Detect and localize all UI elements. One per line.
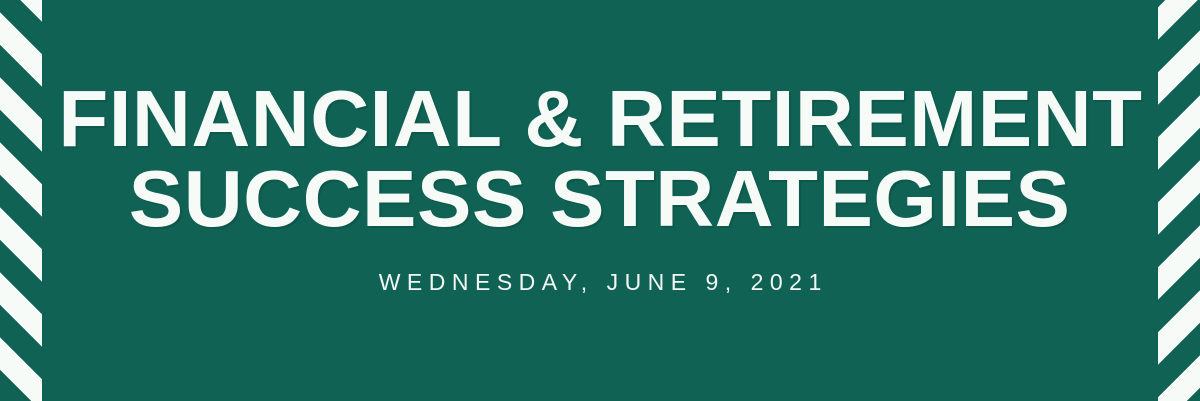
stripe-pattern-right-icon [1158,0,1200,401]
headline-line-2: Success Strategies [129,160,1071,238]
stripe-pattern-left-icon [0,0,42,401]
event-date-subtitle: Wednesday, June 9, 2021 [372,269,828,296]
event-banner: Financial & Retirement Success Strategie… [0,0,1200,401]
banner-content: Financial & Retirement Success Strategie… [42,0,1158,401]
diagonal-stripe-panel-left [0,0,42,401]
headline-line-1: Financial & Retirement [58,80,1142,158]
diagonal-stripe-panel-right [1158,0,1200,401]
